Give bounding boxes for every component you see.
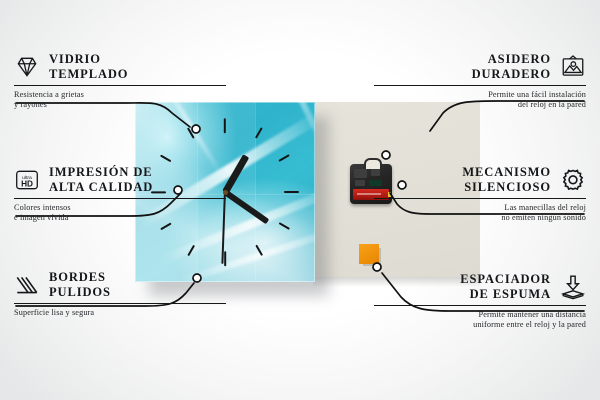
feature-desc-line1: Colores intensos [14,203,71,212]
picture-hanger-icon [560,54,586,80]
feature-divider [14,198,226,199]
feature-title: MECANISMO SILENCIOSO [462,165,551,195]
polished-edges-icon [14,272,40,298]
feature-description: Resistencia a grietas y rayones [14,90,226,111]
feature-mecanismo-silencioso: MECANISMO SILENCIOSO Las manecillas del … [374,165,586,224]
feature-description: Permite mantener una distancia uniforme … [374,310,586,331]
feature-bordes-pulidos: BORDES PULIDOS Superficie lisa y segura [14,270,226,318]
svg-text:HD: HD [21,180,33,189]
feature-desc-line1: Permite mantener una distancia [479,310,587,319]
foam-spacer-part [359,244,379,264]
feature-impresion-alta-calidad: ultra HD IMPRESIÓN DE ALTA CALIDAD Color… [14,165,226,224]
feature-desc-line2: del reloj en la pared [518,100,586,109]
feature-desc-line1: Permite una fácil instalación [488,90,586,99]
feature-title-line2: TEMPLADO [49,67,128,81]
feature-divider [374,305,586,306]
feature-header: VIDRIO TEMPLADO [14,52,226,82]
feature-divider [14,85,226,86]
feature-title-line2: SILENCIOSO [464,180,551,194]
infographic-canvas: VIDRIO TEMPLADO Resistencia a grietas y … [0,0,600,400]
feature-header: ultra HD IMPRESIÓN DE ALTA CALIDAD [14,165,226,195]
feature-desc-line2: uniforme entre el reloj y la pared [473,320,586,329]
feature-title-line2: PULIDOS [49,285,111,299]
feature-description: Las manecillas del reloj no emiten ningú… [374,203,586,224]
feature-title: BORDES PULIDOS [49,270,111,300]
feature-header: BORDES PULIDOS [14,270,226,300]
feature-title-line2: ALTA CALIDAD [49,180,153,194]
feature-title-line1: ESPACIADOR [460,272,551,286]
feature-header: MECANISMO SILENCIOSO [374,165,586,195]
feature-title-line2: DE ESPUMA [470,287,551,301]
mechanism-detail [354,169,367,178]
feature-vidrio-templado: VIDRIO TEMPLADO Resistencia a grietas y … [14,52,226,111]
ultra-hd-icon: ultra HD [14,167,40,193]
feature-desc-line1: Las manecillas del reloj [504,203,586,212]
clock-center-hub [223,190,228,195]
feature-description: Permite una fácil instalación del reloj … [374,90,586,111]
feature-divider [374,198,586,199]
feature-desc-line2: no emiten ningún sonido [501,213,586,222]
feature-title-line1: VIDRIO [49,52,101,66]
feature-title: ESPACIADOR DE ESPUMA [460,272,551,302]
feature-description: Superficie lisa y segura [14,308,226,318]
feature-title-line1: BORDES [49,270,106,284]
feature-desc-line2: y rayones [14,100,47,109]
feature-header: ESPACIADOR DE ESPUMA [374,272,586,302]
feature-title-line1: IMPRESIÓN DE [49,165,153,179]
feature-title-line1: MECANISMO [462,165,551,179]
feature-espaciador-espuma: ESPACIADOR DE ESPUMA Permite mantener un… [374,272,586,331]
mechanism-detail [355,180,365,186]
feature-title-line2: DURADERO [472,67,551,81]
feature-asidero-duradero: ASIDERO DURADERO Permite una fácil insta… [374,52,586,111]
gear-icon [560,167,586,193]
feature-desc-line2: e imagen vívida [14,213,69,222]
feature-divider [374,85,586,86]
foam-spacer-icon [560,274,586,300]
feature-desc-line1: Resistencia a grietas [14,90,84,99]
feature-title-line1: ASIDERO [488,52,551,66]
feature-title: VIDRIO TEMPLADO [49,52,128,82]
feature-divider [14,303,226,304]
feature-description: Colores intensos e imagen vívida [14,203,226,224]
clock-tick [224,251,226,266]
diamond-icon [14,54,40,80]
feature-title: ASIDERO DURADERO [472,52,551,82]
feature-title: IMPRESIÓN DE ALTA CALIDAD [49,165,153,195]
feature-header: ASIDERO DURADERO [374,52,586,82]
feature-desc-line1: Superficie lisa y segura [14,308,94,317]
